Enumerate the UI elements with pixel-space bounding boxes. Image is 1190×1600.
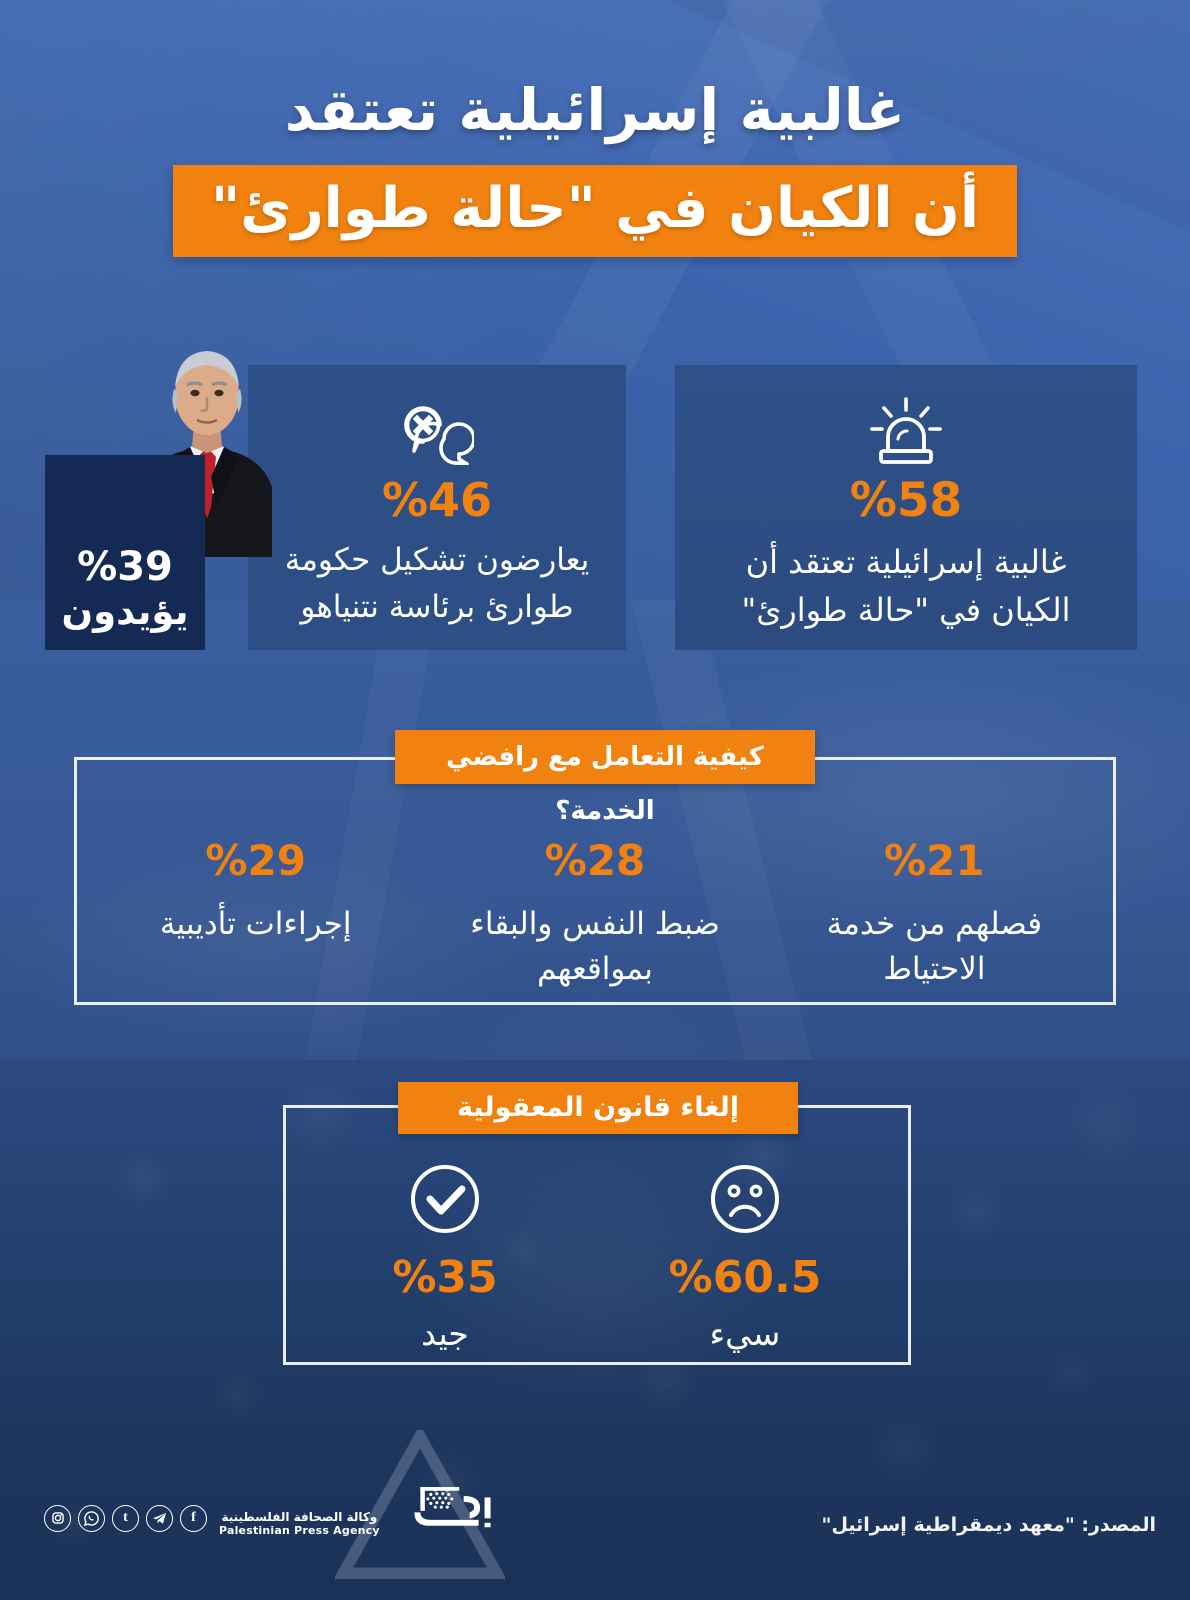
support-box: %39 يؤيدون [45, 455, 205, 650]
header-highlight-band: أن الكيان في "حالة طوارئ" [173, 165, 1017, 257]
logo-subtitle: وكالة الصحافة الفلسطينية Palestinian Pre… [219, 1511, 380, 1537]
law-section-title: إلغاء قانون المعقولية [398, 1082, 798, 1134]
service-percent-28: %28 [437, 840, 752, 882]
emergency-siren-icon [701, 393, 1111, 473]
law-column-bad: %60.5 سيء [595, 1160, 895, 1360]
law-percent-good: %35 [295, 1256, 595, 1300]
header-title-line1: غالبية إسرائيلية تعتقد [0, 78, 1190, 143]
support-label: يؤيدون [62, 591, 189, 634]
stat-percent-58: %58 [701, 477, 1111, 524]
poster-header: غالبية إسرائيلية تعتقد أن الكيان في "حال… [0, 78, 1190, 257]
service-text-21: فصلهم من خدمة الاحتياط [777, 902, 1092, 992]
social-links[interactable]: f t [44, 1505, 207, 1538]
support-percent: %39 [77, 546, 173, 589]
agency-logo: وكالة الصحافة الفلسطينية Palestinian Pre… [44, 1484, 504, 1538]
tumblr-icon[interactable]: t [112, 1505, 139, 1532]
service-percent-21: %21 [777, 840, 1092, 882]
service-column-disciplinary: %29 إجراءات تأديبية [86, 840, 425, 1005]
service-column-dismissal: %21 فصلهم من خدمة الاحتياط [765, 840, 1104, 1005]
infographic-poster: غالبية إسرائيلية تعتقد أن الكيان في "حال… [0, 0, 1190, 1600]
logo-subtitle-english: Palestinian Press Agency [219, 1525, 380, 1538]
poster-footer: وكالة الصحافة الفلسطينية Palestinian Pre… [0, 1470, 1190, 1580]
service-column-restraint: %28 ضبط النفس والبقاء بمواقعهم [425, 840, 764, 1005]
stat-percent-46: %46 [274, 477, 600, 523]
telegram-icon[interactable] [146, 1505, 173, 1532]
law-column-good: %35 جيد [295, 1160, 595, 1360]
stat-text-46: يعارضون تشكيل حكومة طوارئ برئاسة نتنياهو [274, 537, 600, 630]
source-credit: المصدر: "معهد ديمقراطية إسرائيل" [822, 1514, 1156, 1536]
whatsapp-icon[interactable] [78, 1505, 105, 1532]
law-section-columns: %60.5 سيء %35 جيد [295, 1160, 895, 1360]
stat-card-emergency: %58 غالبية إسرائيلية تعتقد أن الكيان في … [675, 365, 1137, 650]
service-section-title: كيفية التعامل مع رافضي الخدمة؟ [395, 730, 815, 784]
service-section-columns: %21 فصلهم من خدمة الاحتياط %28 ضبط النفس… [86, 840, 1104, 1005]
stat-text-58: غالبية إسرائيلية تعتقد أن الكيان في "حال… [701, 538, 1111, 634]
law-percent-bad: %60.5 [595, 1256, 895, 1300]
service-text-29: إجراءات تأديبية [98, 902, 413, 947]
safa-logo-mark [392, 1484, 504, 1538]
service-text-28: ضبط النفس والبقاء بمواقعهم [437, 902, 752, 992]
instagram-icon[interactable] [44, 1505, 71, 1532]
sad-face-icon [595, 1160, 895, 1238]
stat-card-opposition: %46 يعارضون تشكيل حكومة طوارئ برئاسة نتن… [248, 365, 626, 650]
service-percent-29: %29 [98, 840, 413, 882]
check-circle-icon [295, 1160, 595, 1238]
law-label-good: جيد [295, 1314, 595, 1353]
speech-bubbles-x-icon [274, 393, 600, 473]
facebook-icon[interactable]: f [180, 1505, 207, 1532]
header-title-line2: أن الكيان في "حالة طوارئ" [211, 179, 979, 239]
logo-subtitle-arabic: وكالة الصحافة الفلسطينية [219, 1511, 380, 1525]
law-label-bad: سيء [595, 1314, 895, 1353]
